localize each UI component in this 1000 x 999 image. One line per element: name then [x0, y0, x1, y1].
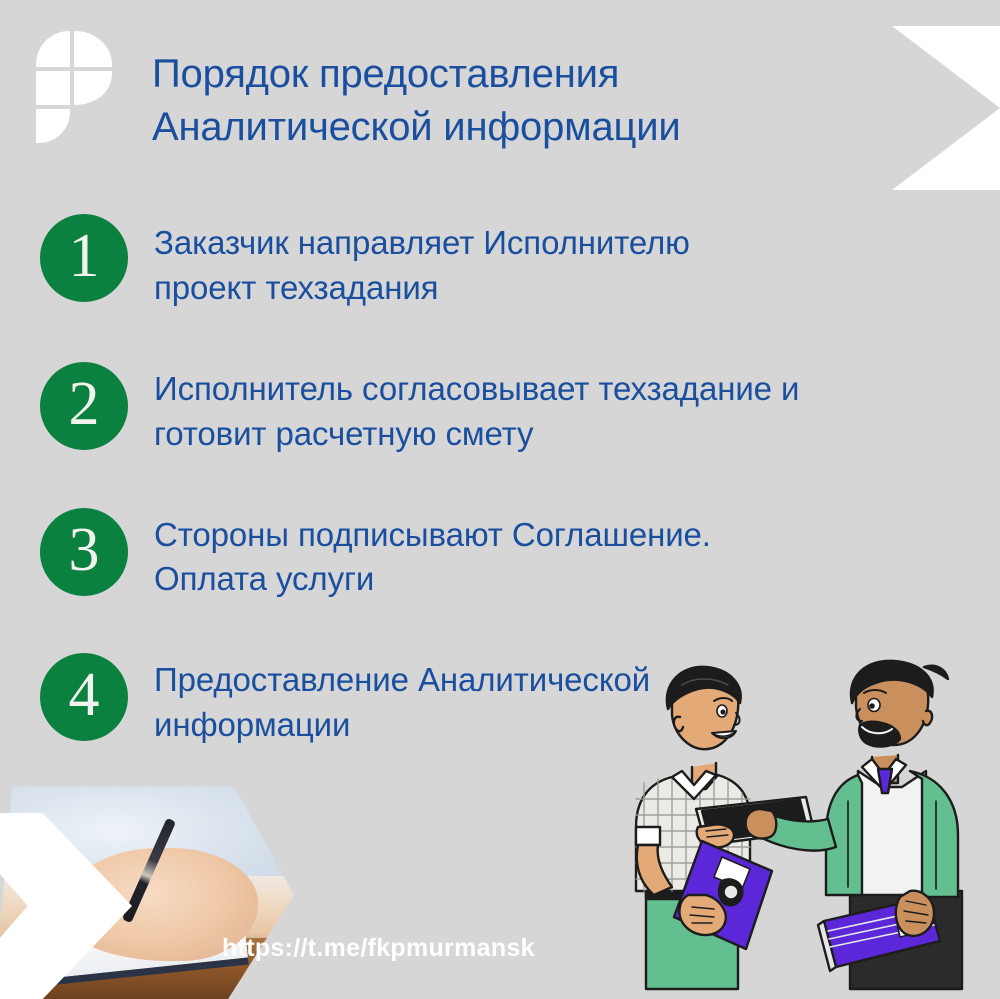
list-item: 2 Исполнитель согласовывает техзадание и… [40, 362, 940, 457]
telegram-url[interactable]: https://t.me/fkpmurmansk [222, 934, 535, 963]
poster: Порядок предоставления Аналитической инф… [0, 0, 1000, 999]
list-item: 3 Стороны подписывают Соглашение. Оплата… [40, 508, 940, 603]
step-number-badge: 3 [40, 508, 128, 596]
step-text: Исполнитель согласовывает техзадание и г… [128, 362, 940, 457]
step-number-badge: 1 [40, 214, 128, 302]
step-text: Заказчик направляет Исполнителю проект т… [128, 214, 940, 311]
rosbank-p-logo-icon [34, 29, 114, 145]
two-businessmen-illustration [610, 659, 1000, 999]
step-text: Стороны подписывают Соглашение. Оплата у… [128, 508, 940, 603]
page-title: Порядок предоставления Аналитической инф… [152, 48, 942, 154]
list-item: 1 Заказчик направляет Исполнителю проект… [40, 214, 940, 311]
step-number-badge: 2 [40, 362, 128, 450]
step-number-badge: 4 [40, 653, 128, 741]
